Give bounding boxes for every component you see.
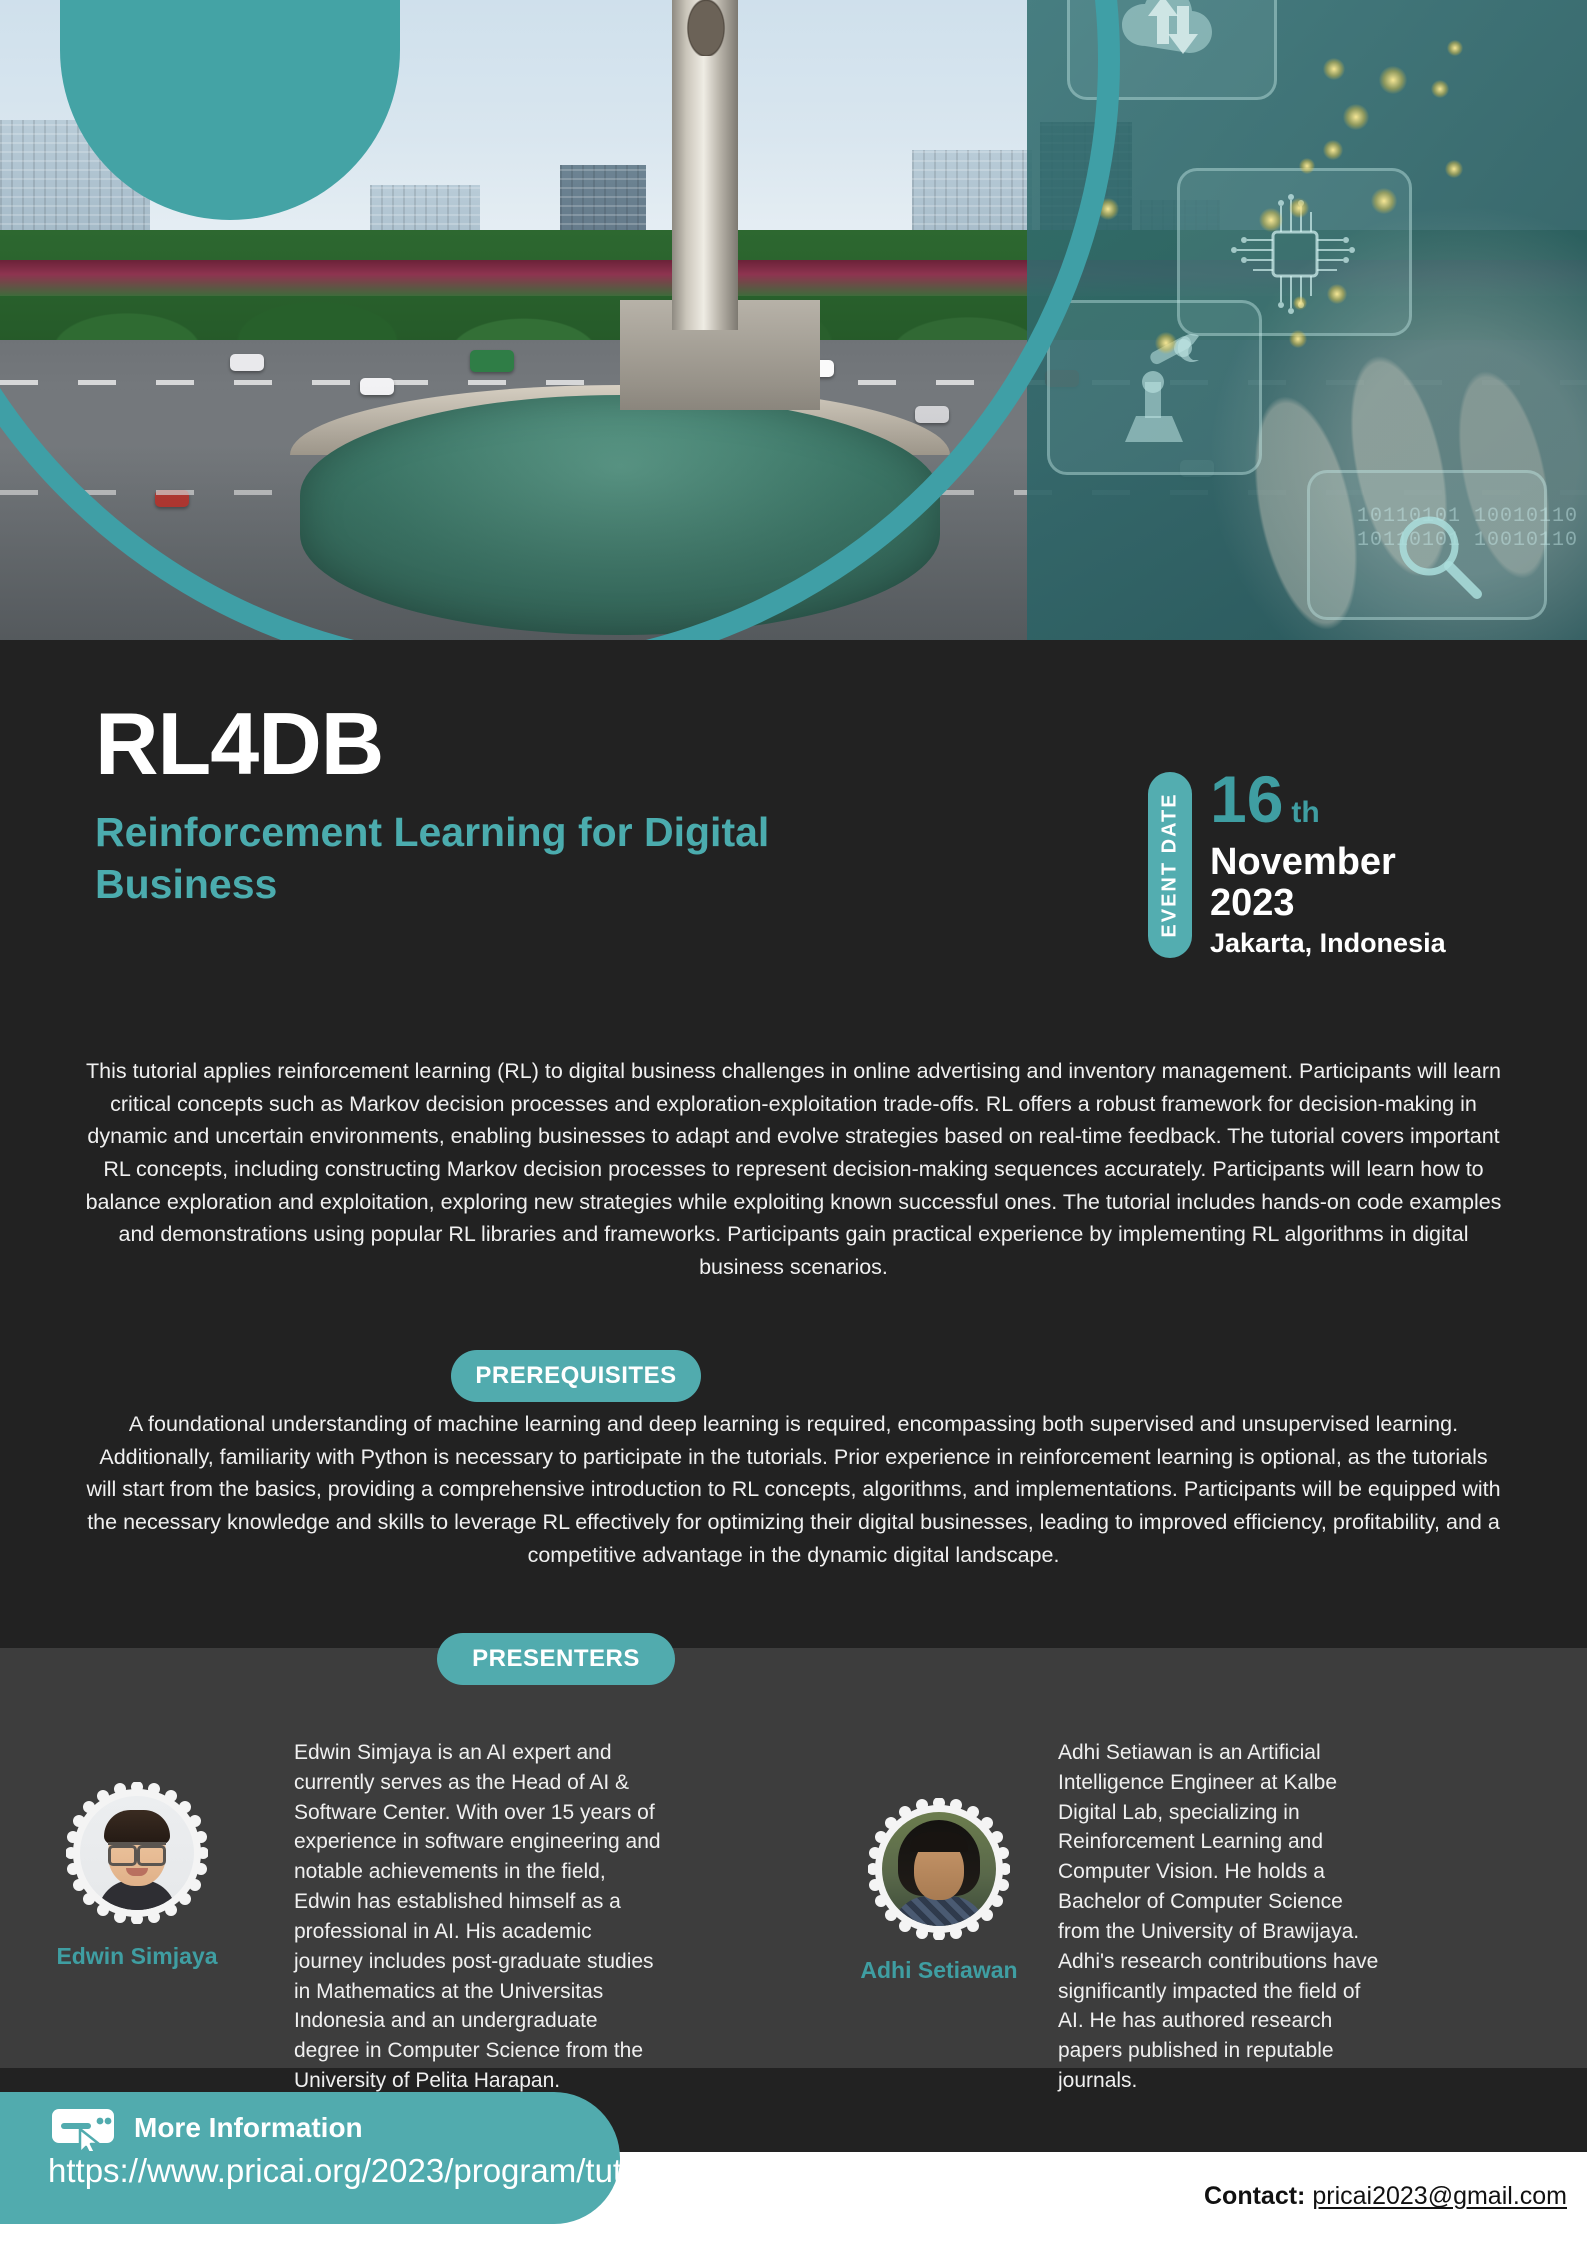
magnifier-icon xyxy=(1389,508,1489,608)
hero-banner: 10110101 10010110 10110101 10010110 xyxy=(0,0,1587,640)
contact-label: Contact: xyxy=(1204,2182,1305,2210)
presenters-heading: PRESENTERS xyxy=(437,1633,675,1685)
presenter-name: Edwin Simjaya xyxy=(36,1943,238,1970)
presenter-bio: Edwin Simjaya is an AI expert and curren… xyxy=(294,1738,664,2096)
event-month: November xyxy=(1210,842,1446,883)
abstract-text: This tutorial applies reinforcement lear… xyxy=(83,1055,1504,1284)
presenter-bio: Adhi Setiawan is an Artificial Intellige… xyxy=(1058,1738,1388,2096)
cloud-sync-icon xyxy=(1115,0,1235,68)
event-location: Jakarta, Indonesia xyxy=(1210,928,1446,959)
more-information-label: More Information xyxy=(134,2112,363,2144)
prerequisites-heading: PREREQUISITES xyxy=(451,1350,701,1402)
event-year: 2023 xyxy=(1210,883,1446,924)
contact-line: Contact: pricai2023@gmail.com xyxy=(1204,2182,1567,2211)
title-block: RL4DB Reinforcement Learning for Digital… xyxy=(95,700,995,911)
page-subtitle: Reinforcement Learning for Digital Busin… xyxy=(95,806,795,911)
event-date-body: 16th November 2023 Jakarta, Indonesia xyxy=(1210,766,1446,959)
prerequisites-text: A foundational understanding of machine … xyxy=(83,1408,1504,1571)
page-title: RL4DB xyxy=(95,700,995,788)
event-date-pill: EVENT DATE xyxy=(1148,772,1192,958)
event-day: 16 xyxy=(1210,766,1283,832)
avatar xyxy=(66,1782,208,1924)
presenter-name: Adhi Setiawan xyxy=(838,1957,1040,1984)
tutorials-url-link[interactable]: https://www.pricai.org/2023/program/tuto… xyxy=(48,2152,701,2190)
contact-email-link[interactable]: pricai2023@gmail.com xyxy=(1312,2182,1567,2210)
poster-root: 10110101 10010110 10110101 10010110 xyxy=(0,0,1587,2245)
click-card-icon xyxy=(50,2105,116,2151)
event-date-label: EVENT DATE xyxy=(1159,792,1182,937)
avatar-photo xyxy=(882,1812,996,1926)
event-day-ordinal: th xyxy=(1291,796,1319,829)
avatar xyxy=(868,1798,1010,1940)
avatar-photo xyxy=(80,1796,194,1910)
more-information-row: More Information xyxy=(50,2105,363,2151)
